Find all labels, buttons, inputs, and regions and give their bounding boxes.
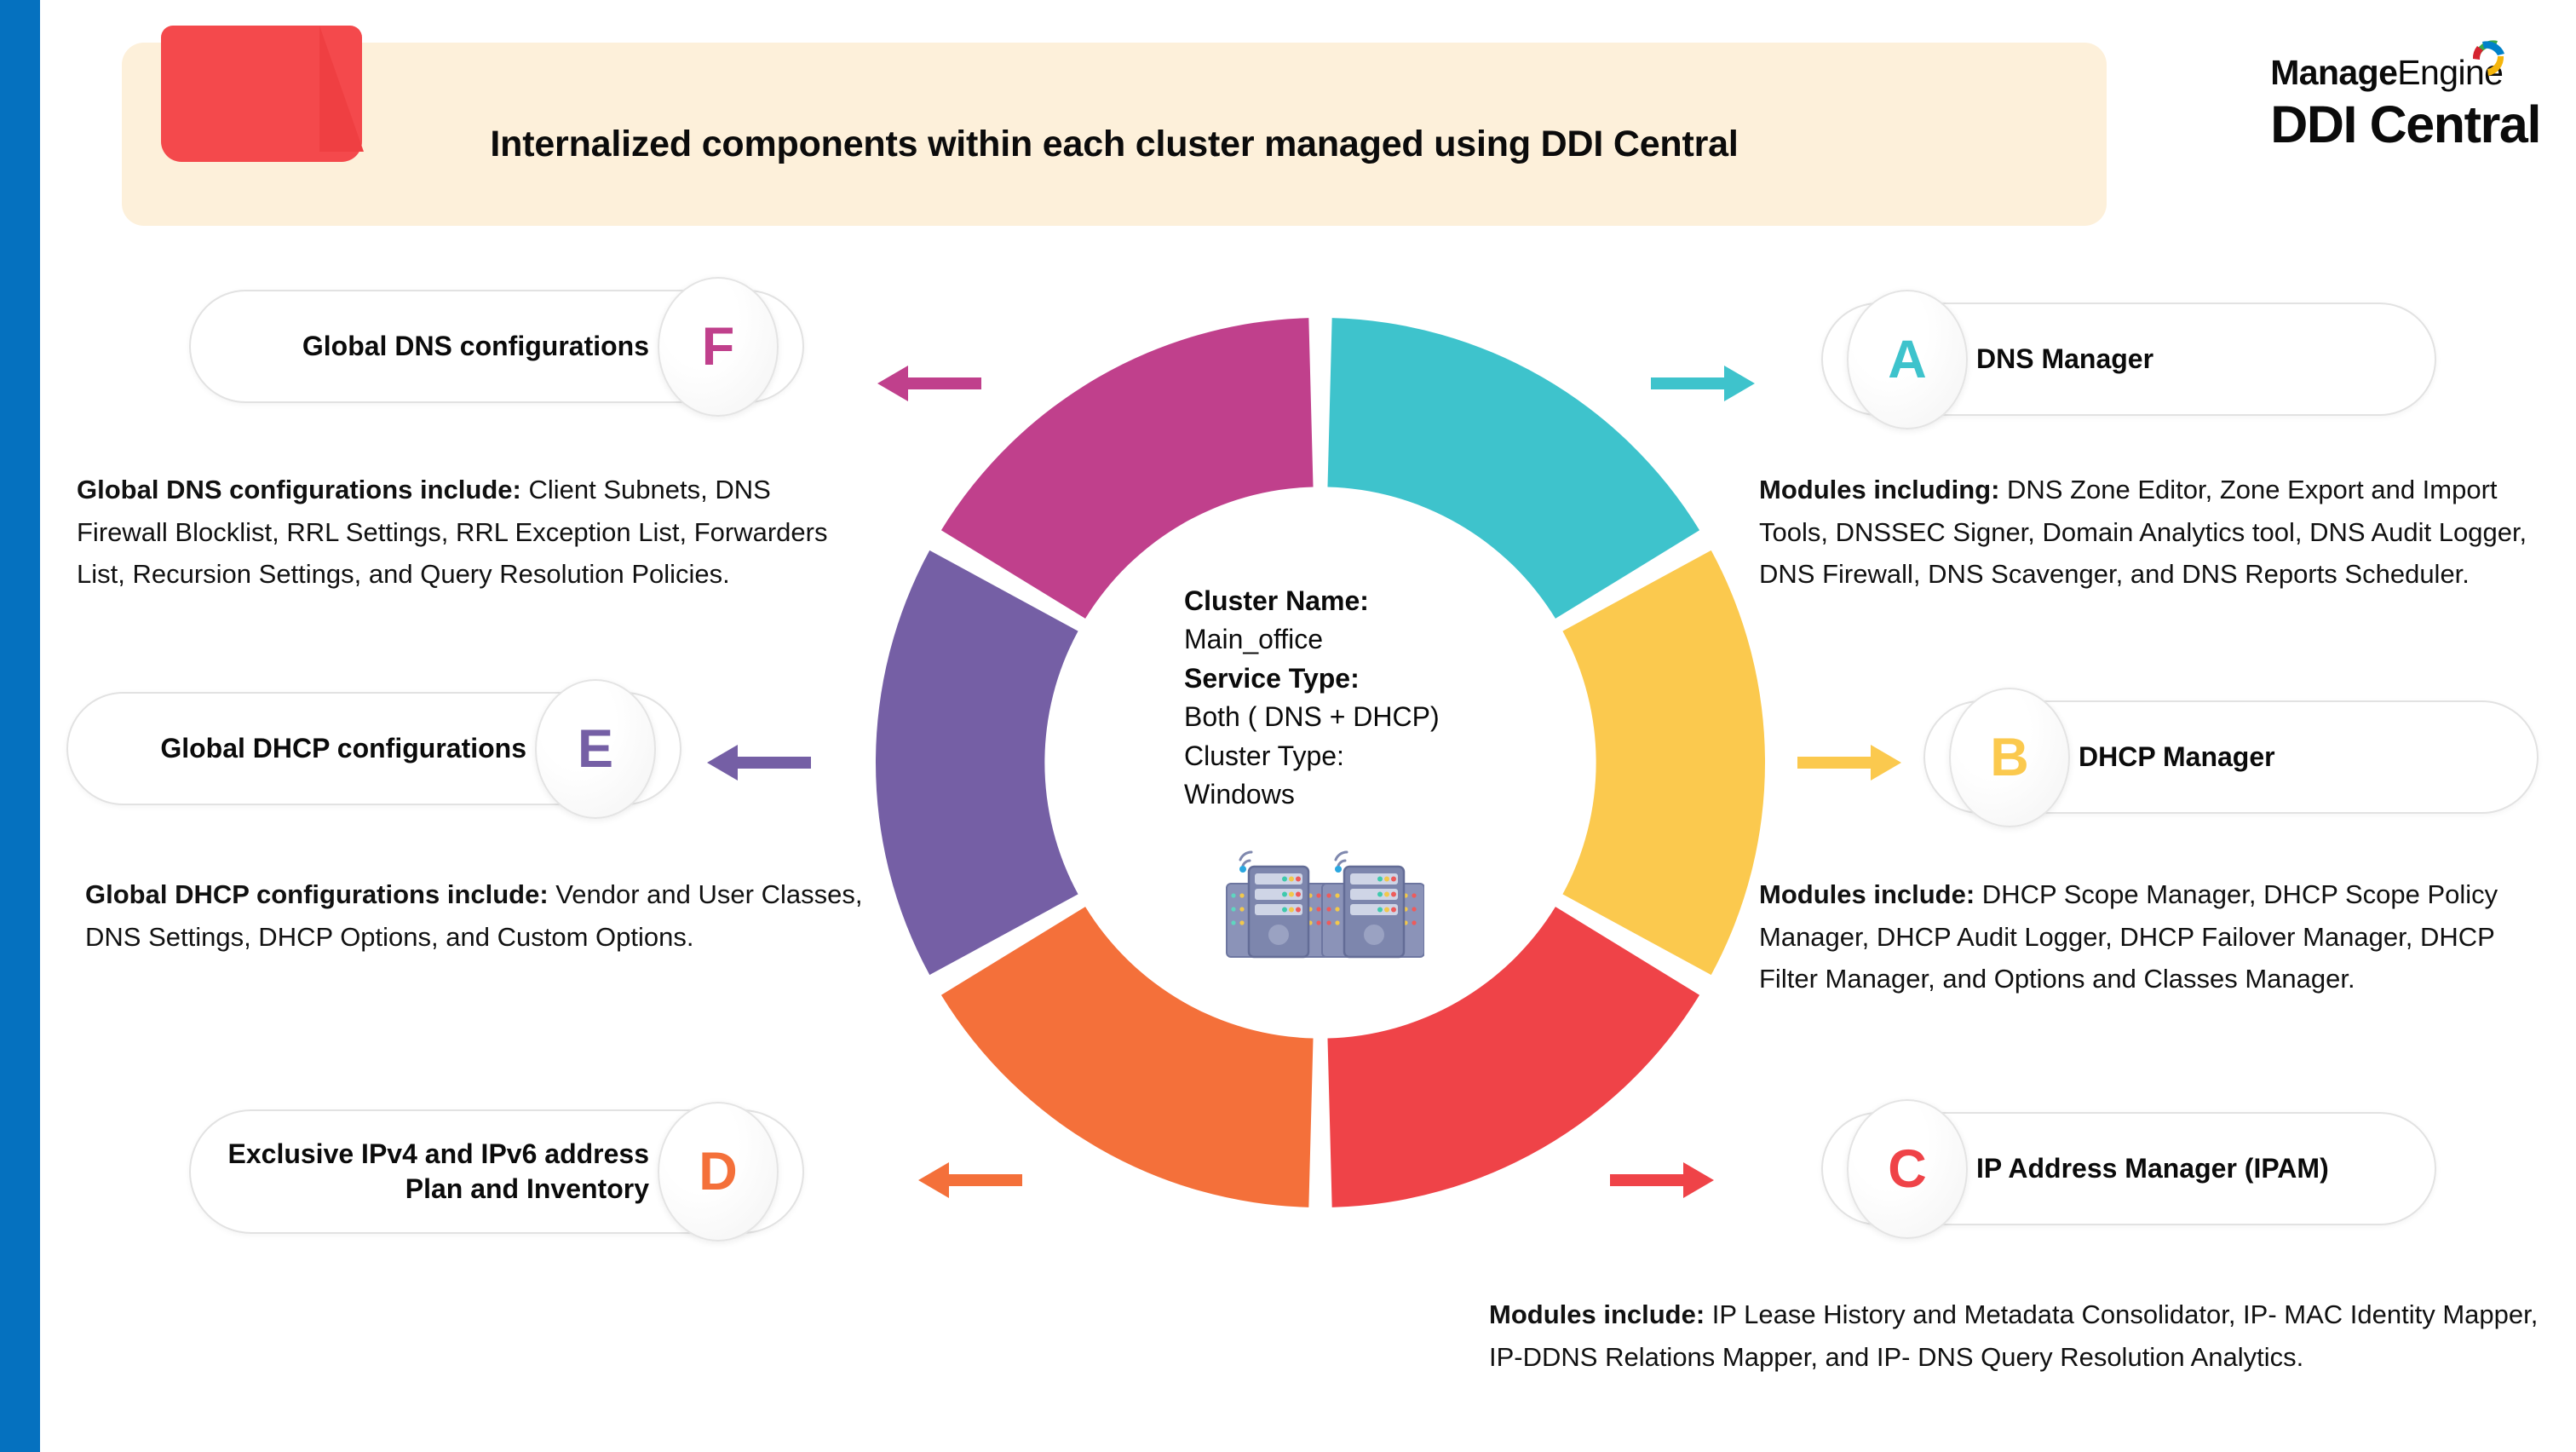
desc-global-dns-config: Global DNS configurations include: Clien…: [77, 469, 843, 596]
donut-segment-b: [1562, 550, 1765, 975]
arrow-left-e: [707, 741, 811, 784]
desc-dns-manager: Modules including: DNS Zone Editor, Zone…: [1759, 469, 2536, 596]
card-ip-plan-inventory[interactable]: Exclusive IPv4 and IPv6 address Plan and…: [189, 1109, 804, 1234]
cluster-name-value: Main_office: [1184, 624, 1323, 654]
cluster-name-label: Cluster Name:: [1184, 585, 1369, 616]
arrow-right-c: [1610, 1159, 1714, 1201]
badge-d: D: [658, 1102, 779, 1242]
brand-logo: ManageEngine DDI Central: [2270, 53, 2540, 154]
card-ipam[interactable]: C IP Address Manager (IPAM): [1821, 1112, 2436, 1225]
cluster-type-label: Cluster Type:: [1184, 740, 1344, 771]
card-title-global-dhcp-config: Global DHCP configurations: [160, 731, 526, 766]
card-title-global-dns-config: Global DNS configurations: [302, 329, 649, 364]
cluster-info-block: Cluster Name: Main_office Service Type: …: [1184, 582, 1525, 815]
arrow-left-d: [918, 1159, 1022, 1201]
desc-dhcp-manager: Modules include: DHCP Scope Manager, DHC…: [1759, 873, 2536, 1000]
manageengine-wordmark: ManageEngine: [2270, 53, 2503, 93]
badge-c: C: [1847, 1099, 1968, 1239]
desc-ipam: Modules include: IP Lease History and Me…: [1489, 1294, 2539, 1378]
badge-f: F: [658, 277, 779, 417]
badge-e: E: [535, 679, 656, 819]
badge-a: A: [1847, 290, 1968, 429]
service-type-value: Both ( DNS + DHCP): [1184, 701, 1440, 732]
cluster-type-value: Windows: [1184, 779, 1295, 810]
card-dhcp-manager[interactable]: B DHCP Manager: [1923, 700, 2539, 814]
card-title-ipam: IP Address Manager (IPAM): [1976, 1151, 2329, 1186]
card-global-dhcp-config[interactable]: Global DHCP configurations E: [66, 692, 681, 805]
desc-global-dhcp-config: Global DHCP configurations include: Vend…: [85, 873, 869, 958]
card-dns-manager[interactable]: A DNS Manager: [1821, 302, 2436, 416]
desc-lead-dns-manager: Modules including:: [1759, 475, 1999, 504]
product-name: DDI Central: [2270, 95, 2540, 154]
card-title-dns-manager: DNS Manager: [1976, 342, 2153, 377]
desc-lead-dhcp-manager: Modules include:: [1759, 879, 1975, 909]
page-title: Internalized components within each clus…: [122, 124, 2107, 165]
desc-lead-global-dns-config: Global DNS configurations include:: [77, 475, 521, 504]
donut-segment-f: [941, 318, 1314, 619]
card-title-ip-plan-inventory: Exclusive IPv4 and IPv6 address Plan and…: [191, 1137, 649, 1207]
donut-segment-e: [876, 550, 1078, 975]
card-title-dhcp-manager: DHCP Manager: [2079, 740, 2275, 775]
card-global-dns-config[interactable]: Global DNS configurations F: [189, 290, 804, 403]
arrow-right-a: [1651, 362, 1755, 405]
manageengine-swoosh-icon: [2457, 31, 2510, 84]
desc-lead-global-dhcp-config: Global DHCP configurations include:: [85, 879, 549, 909]
arrow-right-b: [1797, 741, 1901, 784]
service-type-label: Service Type:: [1184, 663, 1360, 694]
brand-bold-part: Manage: [2270, 53, 2397, 92]
donut-segment-a: [1327, 318, 1699, 619]
server-rack-wifi-icon: [1220, 839, 1424, 967]
arrow-left-f: [877, 362, 981, 405]
desc-lead-ipam: Modules include:: [1489, 1299, 1705, 1329]
badge-b: B: [1949, 688, 2070, 827]
left-accent-rail: [0, 0, 40, 1452]
